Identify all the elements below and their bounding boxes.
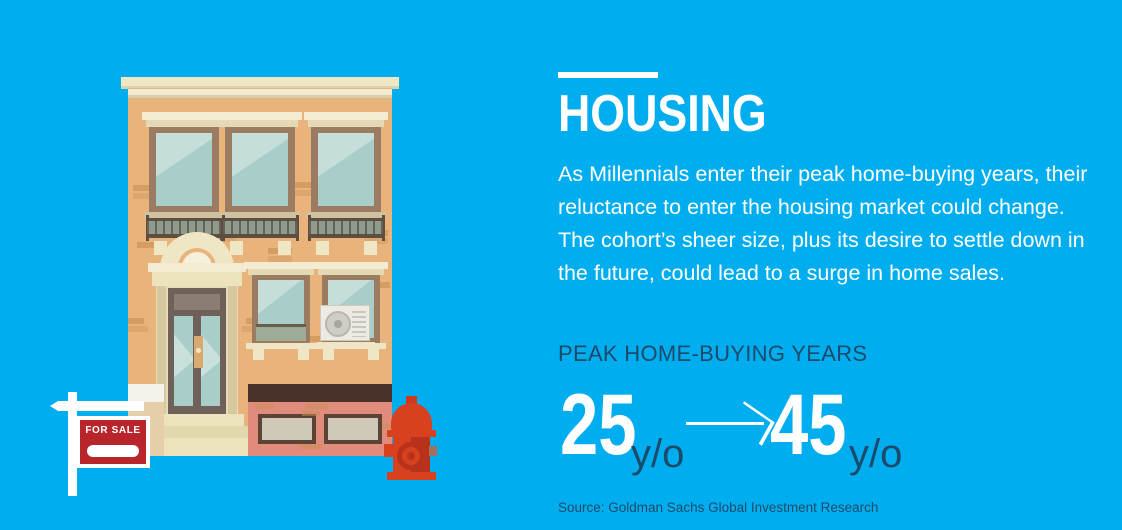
window-hood [142,112,226,120]
for-sale-sign-arm [58,401,144,411]
roof-band-dark [128,95,392,98]
window-hood [314,262,388,269]
stat-start-value: 25 [560,382,637,468]
entry-lintel-band [152,272,242,286]
for-sale-sign-face: FOR SALE [80,420,146,464]
brick-accent [255,404,275,409]
window-hood-shadow [222,120,298,127]
window-hood [218,112,302,120]
door-glass-right [201,316,220,406]
balcony-corbel [278,241,291,255]
window-lower-sash [256,324,306,341]
stat-end-unit: y/o [849,434,902,474]
ac-fan-icon [325,311,351,337]
brick-accent [300,444,322,449]
arrow-head [731,401,775,446]
brick-accent [306,404,328,409]
hydrant-nozzle-left [384,444,394,457]
housing-illustration: FOR SALE [0,0,540,530]
content-panel: HOUSING As Millennials enter their peak … [558,0,1122,530]
arrow-right-icon [686,404,772,444]
hydrant-valve-icon [397,442,425,470]
source-attribution: Source: Goldman Sachs Global Investment … [558,500,878,515]
ac-vent-fins [352,311,366,337]
window-hood-shadow [146,120,222,127]
window-hood [244,262,318,269]
fire-hydrant [380,396,440,480]
basement-window-left [258,414,316,444]
window-glass [156,133,212,206]
brick-accent [128,318,144,324]
stat-kicker-label: PEAK HOME-BUYING YEARS [558,341,867,367]
brick-accent [302,411,320,416]
window-corbel [323,349,334,360]
window-hood [304,112,388,120]
infographic-canvas: FOR SALE HOUSING As Millennials enter th… [0,0,1122,530]
building-base-trim [128,384,164,402]
balcony-corbel [316,241,329,255]
door-glass-left [174,316,193,406]
stat-range: 25 y/o 45 y/o [558,382,958,478]
balcony-corbel [230,241,243,255]
storefront-header-band [248,384,392,402]
for-sale-sign[interactable]: FOR SALE [76,416,150,468]
stoop-step-top [150,414,244,426]
title-rule-divider [558,72,658,78]
brick-accent [292,182,312,188]
entry-lintel-top [148,263,246,272]
window-glass [318,133,374,206]
window-corbel [368,349,379,360]
balcony-railing [309,218,383,238]
body-paragraph: As Millennials enter their peak home-buy… [558,158,1106,290]
stat-start-unit: y/o [631,434,684,474]
stat-end-value: 45 [770,382,847,468]
hydrant-collar [387,430,436,437]
page-title: HOUSING [558,88,767,140]
brick-accent [128,326,148,332]
balcony-corbel [364,241,377,255]
for-sale-sign-label: FOR SALE [80,425,146,436]
ac-shelf [317,342,375,347]
hydrant-dome [391,403,432,431]
door-transom-panel [174,294,220,310]
for-sale-sign-blank-bar [87,445,139,457]
air-conditioner-unit [320,305,370,341]
window-corbel [253,349,264,360]
basement-window-right [324,414,382,444]
door-handle[interactable] [194,336,203,368]
balcony-railing [223,218,297,238]
hydrant-nozzle-right [429,446,437,456]
roof-cornice-upper [121,77,399,86]
window-glass [232,133,288,206]
window-corbel [298,349,309,360]
hydrant-base [387,472,436,480]
window-hood-shadow [308,120,384,127]
